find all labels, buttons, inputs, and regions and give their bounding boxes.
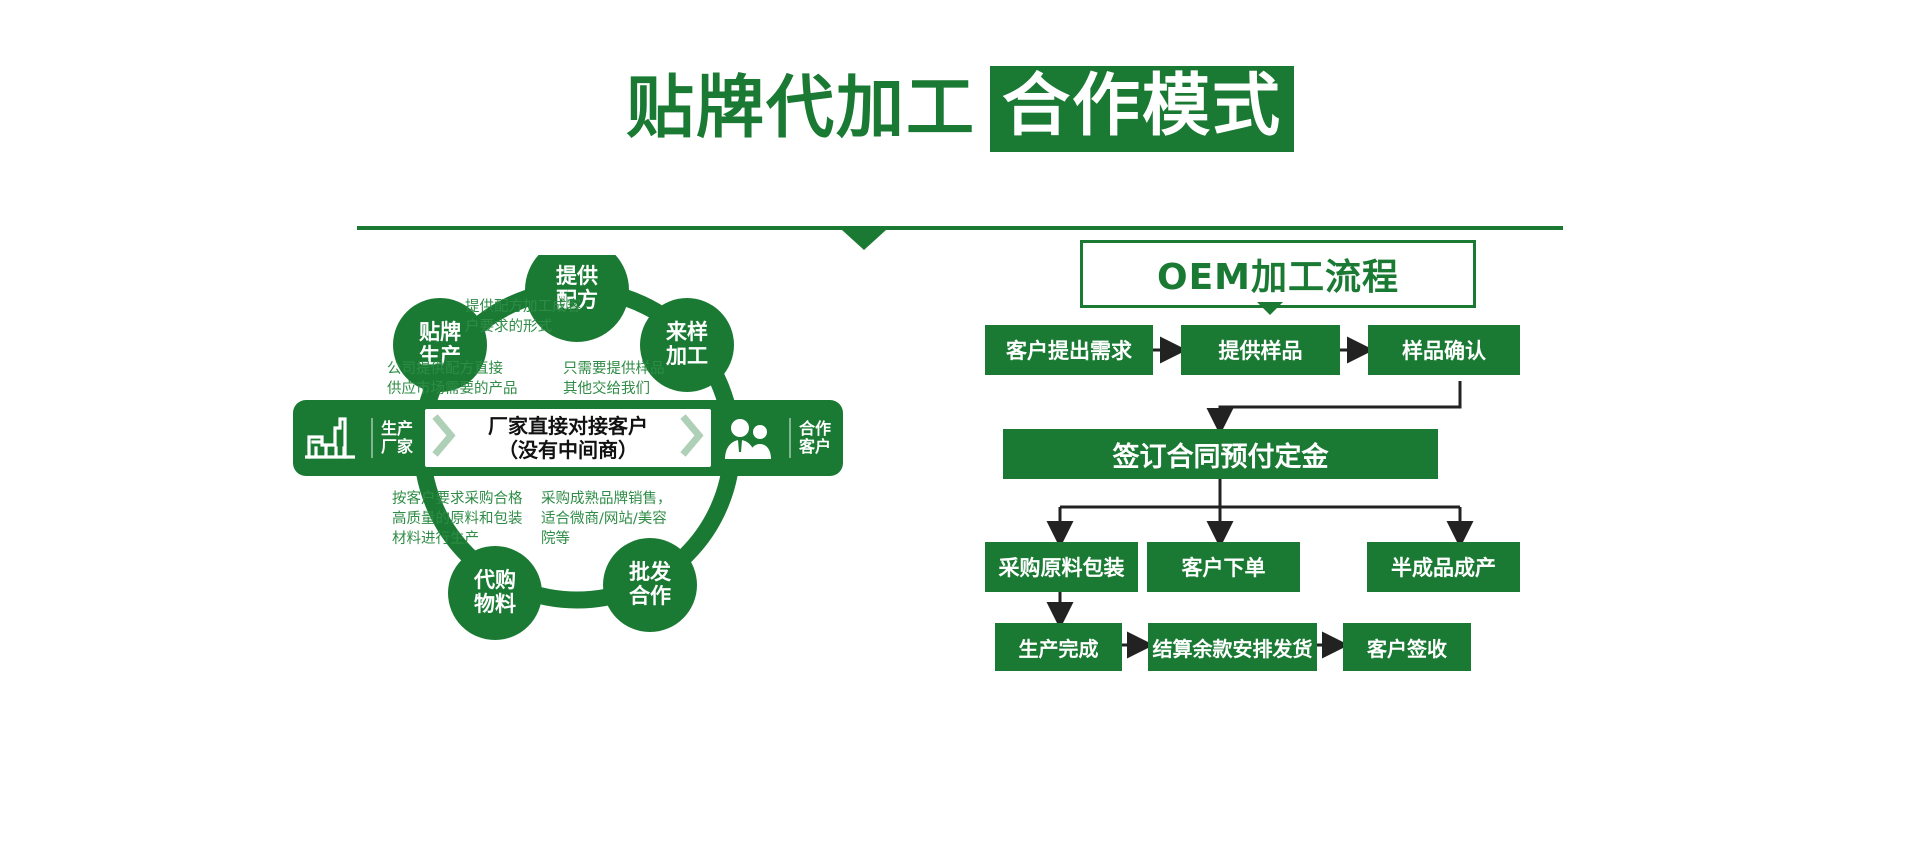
flow-box-row4-1: 结算余款安排发货: [1148, 623, 1317, 671]
flow-box-row3-0: 采购原料包装: [985, 542, 1138, 592]
flow-box-row1-1: 提供样品: [1181, 325, 1340, 375]
chevron-right-icon-left: [431, 413, 457, 464]
flow-box-row1-0: 客户提出需求: [985, 325, 1153, 375]
title-highlight-text: 合作模式: [990, 66, 1294, 152]
title-plain-text: 贴牌代加工: [626, 75, 976, 143]
cycle-center-bar: 生产 厂家 厂家直接对接客户 （没有中间商）: [293, 400, 843, 476]
cycle-node-label-3: 代购 物料: [447, 569, 543, 616]
infographic-canvas: 贴牌代加工 合作模式 提供 配方 来样 加工 批发 合作 代购 物料 贴牌 生产…: [0, 0, 1920, 857]
oem-flowchart: OEM加工流程 客: [985, 255, 1565, 675]
oem-heading-box: OEM加工流程: [1080, 240, 1476, 308]
flow-box-row4-0: 生产完成: [995, 623, 1122, 671]
chevron-right-icon-right: [679, 413, 705, 464]
cycle-node-desc-3: 按客户要求采购合格 高质量的原料和包装 材料进行生产: [392, 489, 567, 549]
divider-caret-icon: [842, 230, 886, 250]
oem-heading-text: OEM加工流程: [1157, 248, 1399, 300]
flow-box-row3-1: 客户下单: [1147, 542, 1300, 592]
cycle-node-desc-1: 只需要提供样品 其他交给我们: [563, 359, 733, 399]
cycle-node-desc-4: 公司提供配方直接 供应市场需要的产品: [387, 359, 572, 399]
flow-box-row2-0: 签订合同预付定金: [1003, 429, 1438, 479]
center-bar-divider-left: [371, 418, 373, 458]
page-title: 贴牌代加工 合作模式: [0, 66, 1920, 152]
cycle-node-desc-0: 提供配方加工成客 户要求的形式: [465, 297, 655, 337]
flow-box-row3-2: 半成品成产: [1367, 542, 1520, 592]
title-divider-line: [357, 226, 1563, 230]
center-bar-statement: 厂家直接对接客户 （没有中间商）: [425, 409, 711, 467]
center-bar-divider-right: [789, 418, 791, 458]
flow-box-row4-2: 客户签收: [1343, 623, 1471, 671]
oem-heading-caret-icon: [1257, 302, 1283, 315]
cycle-diagram: 提供 配方 来样 加工 批发 合作 代购 物料 贴牌 生产 提供配方加工成客 户…: [355, 255, 885, 675]
flow-box-row1-2: 样品确认: [1368, 325, 1520, 375]
factory-icon: [297, 415, 363, 461]
center-bar-statement-text: 厂家直接对接客户 （没有中间商）: [488, 414, 648, 462]
customers-icon: [715, 415, 781, 461]
center-bar-left-label: 生产 厂家: [381, 420, 425, 457]
cycle-node-label-2: 批发 合作: [602, 561, 698, 608]
center-bar-right-label: 合作 客户: [799, 420, 843, 457]
